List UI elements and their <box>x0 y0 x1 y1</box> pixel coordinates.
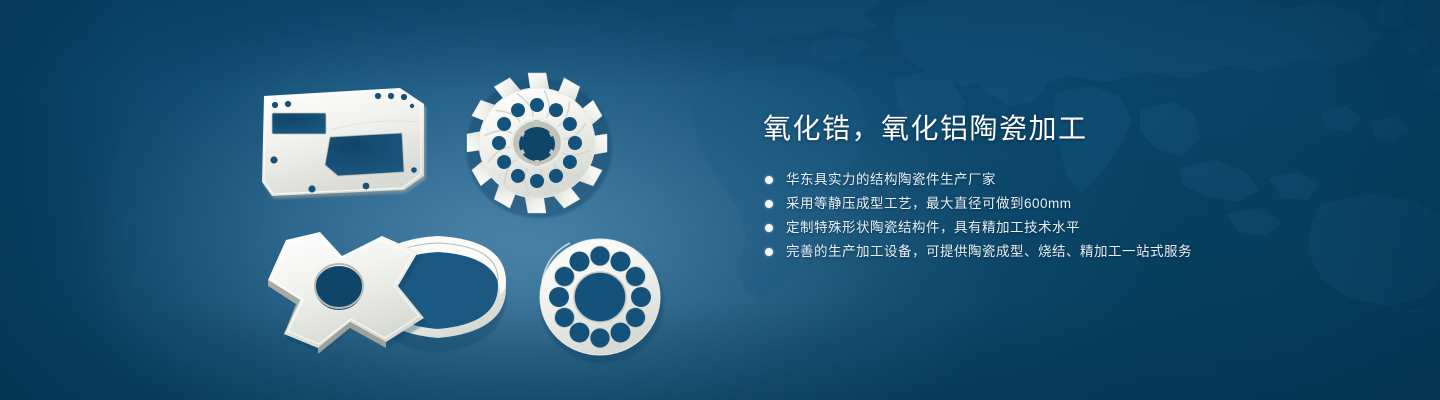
bullet-dot-icon <box>765 176 773 184</box>
list-item: 华东具实力的结构陶瓷件生产厂家 <box>763 168 1383 192</box>
list-item: 定制特殊形状陶瓷结构件，具有精加工技术水平 <box>763 216 1383 240</box>
list-item: 完善的生产加工设备，可提供陶瓷成型、烧结、精加工一站式服务 <box>763 240 1383 264</box>
feature-bullet-list: 华东具实力的结构陶瓷件生产厂家 采用等静压成型工艺，最大直径可做到600mm 定… <box>763 168 1383 264</box>
page-title: 氧化锆，氧化铝陶瓷加工 <box>763 112 1383 146</box>
banner-text-block: 氧化锆，氧化铝陶瓷加工 华东具实力的结构陶瓷件生产厂家 采用等静压成型工艺，最大… <box>763 112 1383 264</box>
list-item-label: 定制特殊形状陶瓷结构件，具有精加工技术水平 <box>786 216 1080 240</box>
ceramic-bladed-impeller-disc <box>466 73 612 218</box>
product-hero-banner: 氧化锆，氧化铝陶瓷加工 华东具实力的结构陶瓷件生产厂家 采用等静压成型工艺，最大… <box>0 0 1440 400</box>
list-item: 采用等静压成型工艺，最大直径可做到600mm <box>763 192 1383 216</box>
bullet-dot-icon <box>765 200 773 208</box>
list-item-label: 采用等静压成型工艺，最大直径可做到600mm <box>786 192 1072 216</box>
list-item-label: 完善的生产加工设备，可提供陶瓷成型、烧结、精加工一站式服务 <box>786 240 1192 264</box>
ceramic-cross-shaped-plate <box>268 232 427 354</box>
list-item-label: 华东具实力的结构陶瓷件生产厂家 <box>786 168 996 192</box>
product-photo-group <box>0 0 720 400</box>
bullet-dot-icon <box>765 224 773 232</box>
bullet-dot-icon <box>765 248 773 256</box>
ceramic-perforated-ring-disc <box>540 239 664 363</box>
ceramic-flat-plate-with-cutouts <box>262 88 426 199</box>
